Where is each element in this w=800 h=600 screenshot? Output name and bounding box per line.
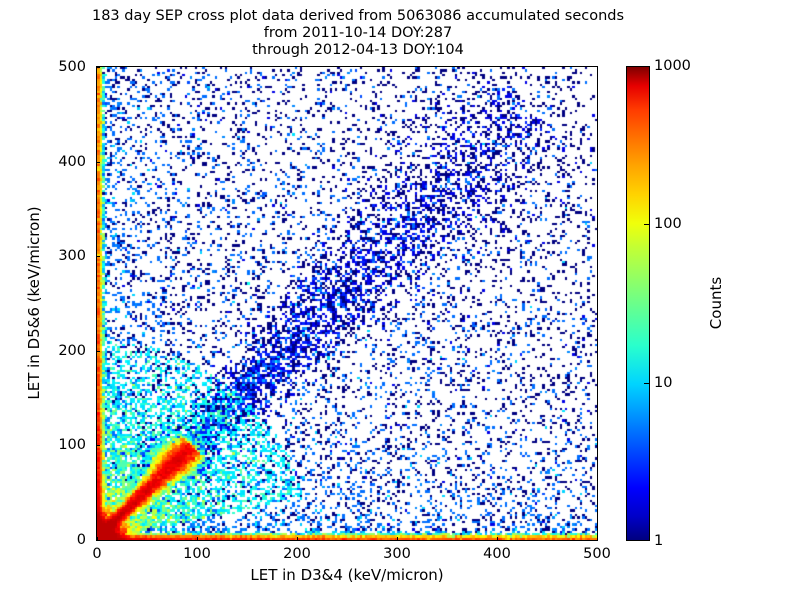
x-tick-mark <box>497 537 498 541</box>
x-tick-label: 300 <box>383 546 411 562</box>
colorbar-tick-label: 100 <box>654 216 682 232</box>
x-tick-mark <box>397 537 398 541</box>
x-axis-title: LET in D3&4 (keV/micron) <box>96 566 598 584</box>
x-tick-label: 400 <box>483 546 511 562</box>
title-line-1: 183 day SEP cross plot data derived from… <box>0 8 716 25</box>
x-tick-mark <box>197 537 198 541</box>
y-axis-title: LET in D5&6 (keV/micron) <box>25 206 43 399</box>
y-tick-mark <box>96 162 100 163</box>
y-tick-mark <box>96 351 100 352</box>
colorbar-tick-label: 1000 <box>654 58 691 74</box>
colorbar-tick-label: 1 <box>654 533 663 549</box>
title-line-3: through 2012-04-13 DOY:104 <box>0 42 716 59</box>
x-tick-label: 200 <box>283 546 311 562</box>
y-tick-label: 300 <box>58 248 86 264</box>
colorbar <box>626 66 650 541</box>
x-tick-label: 0 <box>92 546 101 562</box>
colorbar-tick-mark <box>644 383 650 384</box>
y-tick-label: 500 <box>58 59 86 75</box>
y-tick-mark <box>96 540 100 541</box>
y-tick-mark <box>96 67 100 68</box>
y-tick-mark <box>96 256 100 257</box>
plot-area <box>96 66 598 541</box>
x-tick-label: 500 <box>583 546 611 562</box>
y-tick-label: 100 <box>58 437 86 453</box>
colorbar-tick-mark <box>644 224 650 225</box>
x-tick-label: 100 <box>183 546 211 562</box>
colorbar-gradient <box>626 66 650 541</box>
title-line-2: from 2011-10-14 DOY:287 <box>0 25 716 42</box>
x-tick-mark <box>297 537 298 541</box>
colorbar-tick-label: 10 <box>654 375 672 391</box>
y-tick-label: 400 <box>58 154 86 170</box>
y-tick-label: 0 <box>77 532 86 548</box>
density-scatter-plot <box>97 67 597 540</box>
y-tick-mark <box>96 445 100 446</box>
x-tick-mark <box>597 537 598 541</box>
colorbar-title: Counts <box>707 277 725 329</box>
chart-title: 183 day SEP cross plot data derived from… <box>0 8 716 59</box>
y-tick-label: 200 <box>58 343 86 359</box>
